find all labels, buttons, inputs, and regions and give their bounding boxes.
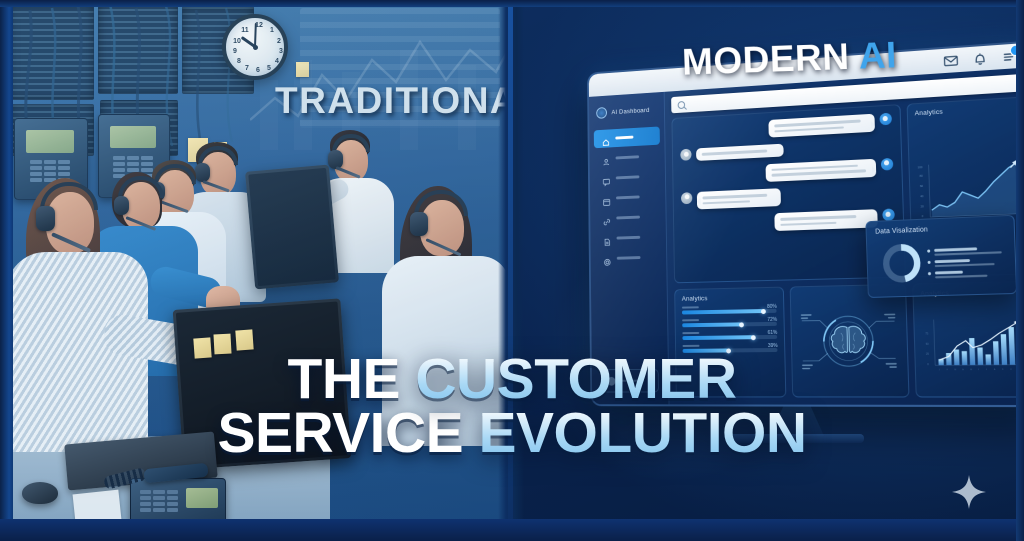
chat-message xyxy=(681,183,894,210)
avatar xyxy=(680,149,691,161)
progress-value: 80% xyxy=(767,304,777,310)
ai-logo-icon xyxy=(596,107,607,119)
sidebar-item-documents[interactable] xyxy=(595,227,662,248)
chat-bubble-outgoing xyxy=(774,209,877,231)
phone-screen xyxy=(186,488,218,508)
wall-clock: 12 1 2 3 4 5 6 7 8 9 10 11 xyxy=(222,14,288,80)
link-icon xyxy=(603,214,611,223)
modern-word: MODERN xyxy=(681,36,850,83)
chat-message xyxy=(681,158,894,186)
chat-bubble-incoming xyxy=(696,144,784,161)
svg-text:100: 100 xyxy=(917,165,922,169)
headset-earcup xyxy=(410,212,428,236)
panel-title: Analytics xyxy=(682,294,777,303)
title-word-evolution: EVOLUTION xyxy=(479,401,807,465)
chat-bubble-outgoing xyxy=(768,114,875,138)
sidebar-item-label xyxy=(617,236,641,239)
mail-icon[interactable] xyxy=(943,52,959,68)
donut-chart xyxy=(875,234,1006,288)
sticky-note xyxy=(235,329,253,350)
headset-earcup xyxy=(195,163,210,182)
notification-badge xyxy=(1010,44,1022,56)
bell-icon[interactable] xyxy=(972,50,988,66)
computer-mouse xyxy=(22,482,58,504)
settings-icon xyxy=(603,254,611,263)
sidebar-item-chat[interactable] xyxy=(594,167,660,188)
phone-screen xyxy=(110,126,156,148)
progress-track[interactable]: 80% xyxy=(682,309,777,314)
avatar xyxy=(879,113,891,126)
modern-ai-label: MODERN AI xyxy=(681,34,897,83)
calendar-icon xyxy=(603,194,611,203)
document-icon xyxy=(603,234,611,243)
sparkle-icon xyxy=(952,475,986,509)
dashboard-brand-label: AI Dashboard xyxy=(611,107,649,116)
progress-value: 61% xyxy=(768,330,778,336)
sidebar-item-label xyxy=(616,156,640,160)
phone-screen xyxy=(26,130,74,153)
headset-earcup xyxy=(36,206,55,231)
clock-minute-hand xyxy=(254,23,257,47)
sidebar-item-label xyxy=(615,136,633,139)
chat-icon xyxy=(602,174,610,183)
menu-icon[interactable] xyxy=(1001,48,1017,64)
phone-keypad xyxy=(140,490,178,512)
panel-title: Data Visalization xyxy=(875,223,1005,235)
sidebar-item-users[interactable] xyxy=(594,147,660,169)
svg-text:50: 50 xyxy=(925,343,929,345)
page-title: THE CUSTOMER SERVICE EVOLUTION xyxy=(0,352,1024,460)
sidebar-item-label xyxy=(616,216,640,219)
progress-value: 39% xyxy=(768,343,778,349)
progress-row: 72% xyxy=(682,318,777,327)
progress-label xyxy=(682,319,699,321)
ai-word: AI xyxy=(858,34,897,76)
progress-track[interactable]: 72% xyxy=(682,322,777,327)
chat-bubble-outgoing xyxy=(765,159,876,182)
svg-text:75: 75 xyxy=(925,333,929,335)
home-icon xyxy=(602,134,610,143)
progress-row: 61% xyxy=(682,331,777,340)
paper-sheet xyxy=(73,490,122,525)
sidebar-item-settings[interactable] xyxy=(595,248,662,268)
avatar xyxy=(880,158,893,171)
progress-track[interactable]: 61% xyxy=(682,335,777,340)
user-icon xyxy=(602,154,610,163)
clock-center-pin xyxy=(253,45,258,50)
computer-monitor xyxy=(245,165,339,290)
progress-value: 72% xyxy=(767,317,777,323)
svg-text:60: 60 xyxy=(919,184,923,188)
sidebar-item-calendar[interactable] xyxy=(594,187,660,208)
progress-label xyxy=(682,332,699,334)
progress-row: 80% xyxy=(682,305,777,315)
headset-earcup xyxy=(114,196,129,215)
dashboard-brand: AI Dashboard xyxy=(589,99,664,128)
banner-root: 12 1 2 3 4 5 6 7 8 9 10 11 xyxy=(0,0,1024,541)
traditional-label: TRADITIONAL xyxy=(275,80,512,122)
sidebar-item-links[interactable] xyxy=(595,207,662,228)
svg-text:20: 20 xyxy=(920,204,924,208)
chat-message xyxy=(680,113,892,143)
sidebar-item-label xyxy=(616,176,640,180)
chat-bubble-incoming xyxy=(697,188,781,209)
progress-label xyxy=(682,306,699,308)
sidebar-item-home[interactable] xyxy=(594,126,660,148)
monitor-screen xyxy=(248,168,335,286)
svg-text:80: 80 xyxy=(919,174,923,178)
data-visualization-panel[interactable]: Data Visalization xyxy=(865,215,1017,298)
svg-text:40: 40 xyxy=(920,194,924,198)
sidebar-item-label xyxy=(617,256,641,259)
chat-message xyxy=(680,138,892,162)
sidebar-item-label xyxy=(616,196,640,199)
avatar xyxy=(681,192,692,204)
chat-message xyxy=(681,209,894,235)
search-icon xyxy=(678,100,686,108)
